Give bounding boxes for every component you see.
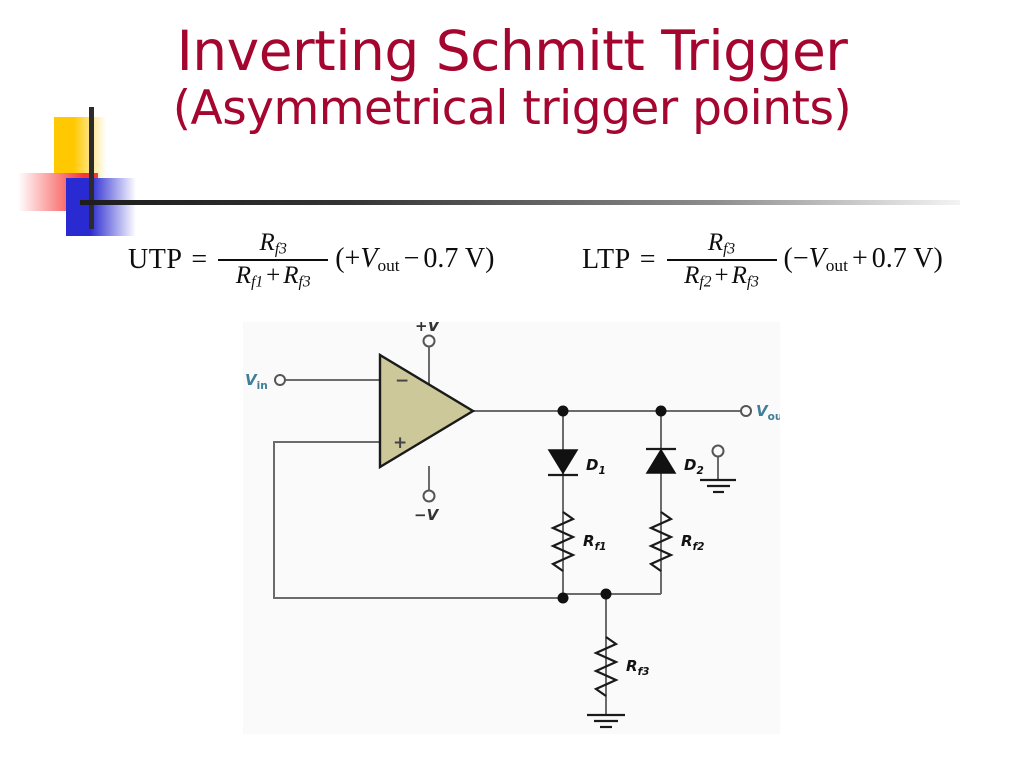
opamp-noninverting-input-label: + xyxy=(393,433,407,453)
title-line-primary: Inverting Schmitt Trigger xyxy=(0,22,1024,80)
formula-ltp-den-left-var: R xyxy=(684,262,699,289)
vertical-rule-decoration xyxy=(89,107,94,229)
formula-utp-lhs: UTP xyxy=(128,244,182,276)
junction-node-rf3-top xyxy=(601,589,612,600)
formula-utp-numerator: Rf3 xyxy=(256,228,291,259)
formula-ltp-rhs-close: ) xyxy=(933,243,942,274)
formula-utp-numerator-sub: f3 xyxy=(275,240,287,257)
formula-ltp-numerator-var: R xyxy=(708,229,723,256)
formula-ltp-rhs-value: 0.7 V xyxy=(872,243,934,274)
ground-symbol-reference xyxy=(700,480,736,492)
formula-ltp-rhs: (−Vout+0.7 V) xyxy=(784,243,943,276)
formula-ltp: LTP = Rf3 Rf2+Rf3 (−Vout+0.7 V) xyxy=(582,228,943,291)
negative-rail-terminal-icon[interactable] xyxy=(424,491,435,502)
junction-node-d1-top xyxy=(558,406,569,417)
resistor-rf2-label: Rf2 xyxy=(681,532,704,553)
ground-reference-terminal-icon[interactable] xyxy=(713,446,724,457)
junction-node-feedback xyxy=(558,593,569,604)
ground-symbol-main xyxy=(587,715,625,727)
junction-node-d2-top xyxy=(656,406,667,417)
vin-label: Vin xyxy=(245,371,268,392)
diode-d1-symbol xyxy=(548,450,578,475)
schmitt-trigger-circuit: − + Vin Vout +V −V D1 D2 Rf1 Rf2 Rf3 xyxy=(243,322,780,734)
formula-utp-rhs-op: − xyxy=(404,243,420,274)
diode-d2-symbol xyxy=(646,449,676,473)
diode-d2-label: D2 xyxy=(684,456,704,477)
formula-ltp-numerator-sub: f3 xyxy=(723,240,735,257)
yellow-square-decoration xyxy=(54,117,106,179)
resistor-rf3-label: Rf3 xyxy=(626,657,649,678)
diode-d1-label: D1 xyxy=(586,456,606,477)
formula-ltp-rhs-open: (− xyxy=(784,243,809,274)
formula-utp-fraction: Rf3 Rf1+Rf3 xyxy=(218,228,328,291)
formula-ltp-equals: = xyxy=(640,244,656,276)
formula-ltp-fraction: Rf3 Rf2+Rf3 xyxy=(667,228,777,291)
vin-terminal-icon[interactable] xyxy=(275,375,285,385)
formula-ltp-den-left-sub: f2 xyxy=(699,273,711,290)
formula-utp: UTP = Rf3 Rf1+Rf3 (+Vout−0.7 V) xyxy=(128,228,494,291)
circuit-diagram-panel: − + Vin Vout +V −V D1 D2 Rf1 Rf2 Rf3 xyxy=(243,322,780,734)
formula-utp-rhs-open: (+ xyxy=(335,243,360,274)
formula-ltp-den-right-var: R xyxy=(732,262,747,289)
formula-utp-rhs-var: V xyxy=(360,243,377,274)
formula-ltp-denominator: Rf2+Rf3 xyxy=(680,261,763,292)
formula-utp-numerator-var: R xyxy=(260,229,275,256)
formula-utp-den-left-sub: f1 xyxy=(251,273,263,290)
formula-utp-rhs-var-sub: out xyxy=(377,256,399,275)
horizontal-rule-divider xyxy=(80,200,960,205)
formula-utp-den-op: + xyxy=(266,262,280,289)
formula-utp-rhs-value: 0.7 V xyxy=(423,243,485,274)
formula-ltp-lhs: LTP xyxy=(582,244,631,276)
formula-utp-denominator: Rf1+Rf3 xyxy=(232,261,315,292)
resistor-rf1-label: Rf1 xyxy=(583,532,606,553)
positive-rail-terminal-icon[interactable] xyxy=(424,336,435,347)
vout-terminal-icon[interactable] xyxy=(741,406,751,416)
negative-rail-label: −V xyxy=(414,506,440,524)
formula-utp-den-right-sub: f3 xyxy=(299,273,311,290)
vout-label: Vout xyxy=(756,402,780,423)
formula-utp-equals: = xyxy=(191,244,207,276)
positive-rail-label: +V xyxy=(415,322,441,335)
formula-utp-rhs: (+Vout−0.7 V) xyxy=(335,243,494,276)
decorative-corner-motif xyxy=(18,100,168,225)
formula-ltp-numerator: Rf3 xyxy=(704,228,739,259)
formula-ltp-rhs-var-sub: out xyxy=(826,256,848,275)
formula-ltp-den-op: + xyxy=(714,262,728,289)
formula-utp-den-left-var: R xyxy=(236,262,251,289)
formula-utp-rhs-close: ) xyxy=(485,243,494,274)
formula-ltp-rhs-op: + xyxy=(852,243,868,274)
opamp-inverting-input-label: − xyxy=(395,371,409,391)
formula-utp-den-right-var: R xyxy=(283,262,298,289)
formula-ltp-rhs-var: V xyxy=(809,243,826,274)
formula-ltp-den-right-sub: f3 xyxy=(747,273,759,290)
formula-row: UTP = Rf3 Rf1+Rf3 (+Vout−0.7 V) LTP = Rf… xyxy=(0,228,1024,308)
